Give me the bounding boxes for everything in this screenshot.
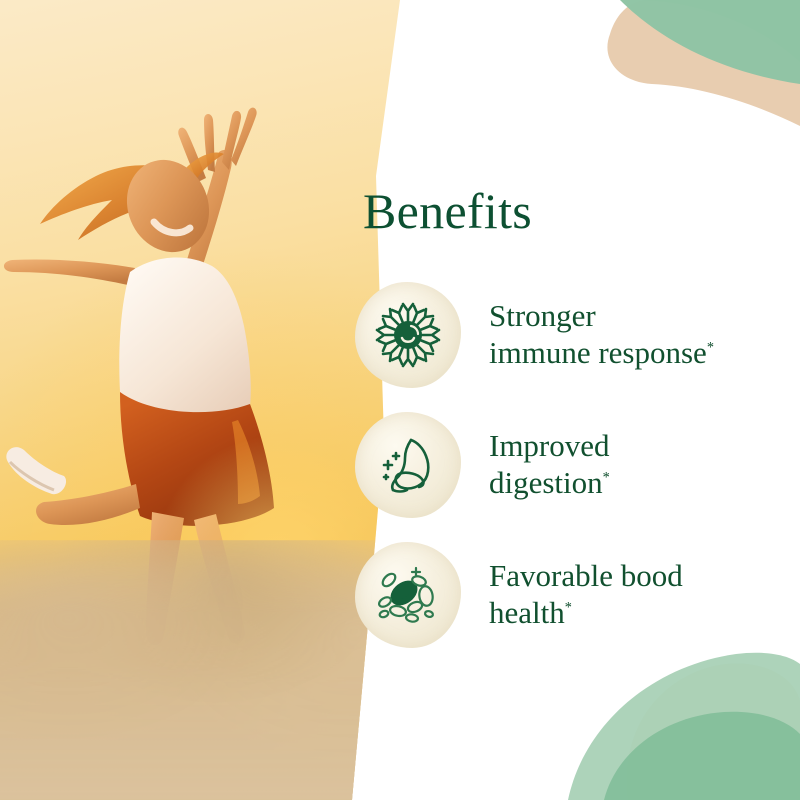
benefits-infographic: Benefits [0,0,800,800]
benefit-line-2: immune response [489,335,707,370]
benefit-line-1: Improved [489,428,610,463]
blood-cells-icon [371,558,445,632]
benefit-line-1: Favorable bood [489,558,683,593]
sage-blob-bottom-right-light [568,653,800,800]
page-title: Benefits [363,186,532,236]
immune-cell-icon [371,298,445,372]
benefit-item: Stronger immune response* [355,279,800,391]
cream-blob-bottom-right [627,663,800,800]
benefit-icon-blob [355,282,461,388]
footnote-marker: * [707,340,714,356]
sage-blob-top-right [636,0,800,62]
benefit-line-1: Stronger [489,298,596,333]
watercolor-bottom-edge [0,540,400,800]
benefit-label: Favorable bood health* [489,558,683,631]
benefit-label: Improved digestion* [489,428,610,501]
benefit-label: Stronger immune response* [489,298,714,371]
benefit-icon-blob [355,542,461,648]
benefit-item: Favorable bood health* [355,539,800,651]
benefit-line-2: health [489,595,565,630]
footnote-marker: * [565,600,572,616]
benefit-item: Improved digestion* [355,409,800,521]
benefit-line-2: digestion [489,465,603,500]
footnote-marker: * [603,470,610,486]
hero-photo [0,0,400,800]
sage-blob-bottom-right-dark [604,712,800,800]
benefit-icon-blob [355,412,461,518]
stomach-digestion-icon [371,428,445,502]
tan-blob-top-right [607,0,800,126]
